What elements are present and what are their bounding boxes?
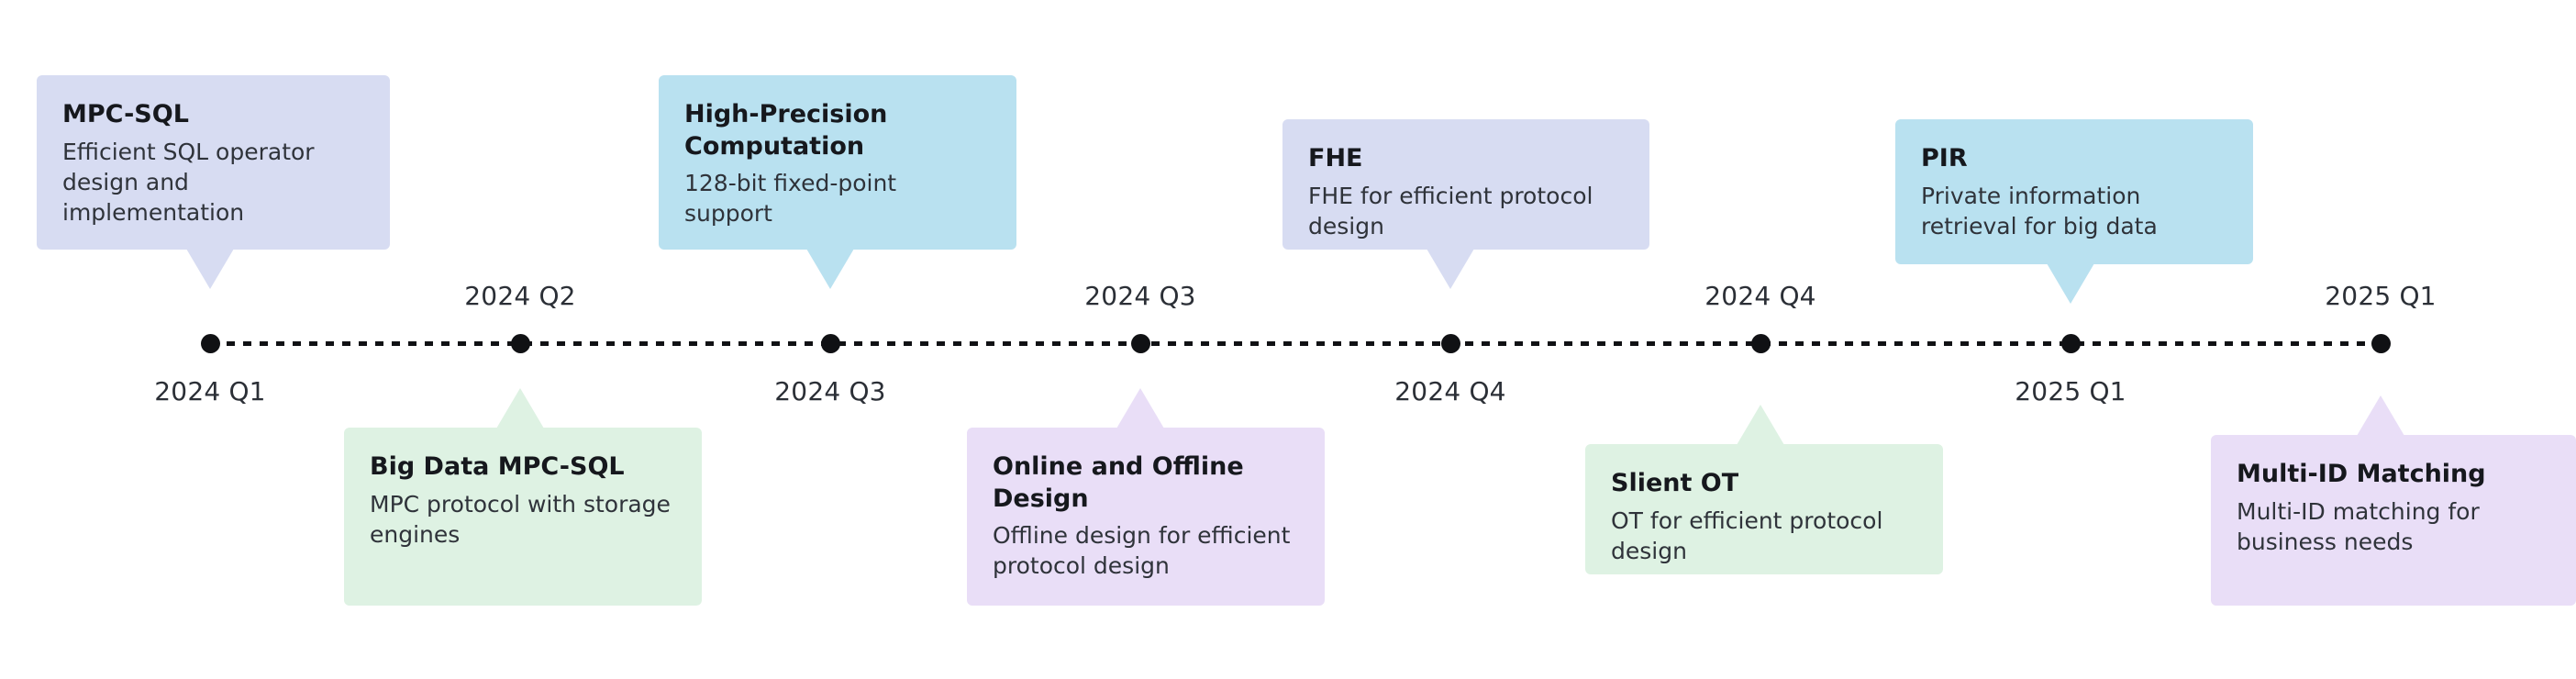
- timeline-period-label: 2024 Q4: [1394, 376, 1505, 406]
- timeline-period-label: 2025 Q1: [2015, 376, 2126, 406]
- timeline-period-label: 2024 Q1: [154, 376, 265, 406]
- timeline-period-label: 2024 Q2: [464, 281, 575, 311]
- milestone-title: FHE: [1308, 143, 1624, 175]
- timeline-diagram: 2024 Q12024 Q22024 Q32024 Q32024 Q42024 …: [0, 0, 2576, 679]
- milestone-card-pointer: [806, 249, 854, 289]
- milestone-card[interactable]: PIRPrivate information retrieval for big…: [1895, 119, 2253, 264]
- milestone-card-pointer: [2047, 263, 2094, 304]
- timeline-marker-dot: [1441, 334, 1460, 353]
- timeline-marker-dot: [2371, 334, 2391, 353]
- timeline-period-label: 2024 Q3: [1084, 281, 1195, 311]
- timeline-marker-dot: [2061, 334, 2081, 353]
- timeline-marker-dot: [1131, 334, 1150, 353]
- milestone-card[interactable]: MPC-SQLEfficient SQL operator design and…: [37, 75, 390, 250]
- timeline-period-label: 2024 Q4: [1704, 281, 1815, 311]
- milestone-description: OT for efficient protocol design: [1611, 506, 1917, 567]
- timeline-marker-dot: [1751, 334, 1771, 353]
- timeline-axis: [210, 341, 2380, 346]
- milestone-card[interactable]: Multi-ID MatchingMulti-ID matching for b…: [2211, 435, 2576, 606]
- milestone-title: MPC-SQL: [62, 99, 364, 131]
- timeline-marker-dot: [201, 334, 220, 353]
- milestone-description: Efficient SQL operator design and implem…: [62, 137, 364, 228]
- milestone-card[interactable]: Slient OTOT for efficient protocol desig…: [1585, 444, 1943, 574]
- timeline-marker-dot: [821, 334, 840, 353]
- milestone-title: Online and Offline Design: [993, 451, 1299, 515]
- milestone-card[interactable]: Online and Offline DesignOffline design …: [967, 428, 1325, 606]
- timeline-marker-dot: [511, 334, 530, 353]
- milestone-description: Private information retrieval for big da…: [1921, 181, 2227, 242]
- milestone-card[interactable]: Big Data MPC-SQLMPC protocol with storag…: [344, 428, 702, 606]
- milestone-title: Multi-ID Matching: [2237, 459, 2550, 491]
- milestone-card-pointer: [496, 388, 544, 429]
- milestone-card[interactable]: FHEFHE for efficient protocol design: [1282, 119, 1649, 250]
- milestone-description: FHE for efficient protocol design: [1308, 181, 1624, 242]
- milestone-description: MPC protocol with storage engines: [370, 489, 676, 551]
- milestone-title: Big Data MPC-SQL: [370, 451, 676, 484]
- timeline-period-label: 2025 Q1: [2325, 281, 2436, 311]
- milestone-description: Offline design for efficient protocol de…: [993, 520, 1299, 582]
- milestone-title: High-Precision Computation: [684, 99, 991, 162]
- milestone-title: Slient OT: [1611, 468, 1917, 500]
- milestone-card[interactable]: High-Precision Computation128-bit fixed-…: [659, 75, 1016, 250]
- milestone-title: PIR: [1921, 143, 2227, 175]
- milestone-description: 128-bit fixed-point support: [684, 168, 991, 229]
- milestone-description: Multi-ID matching for business needs: [2237, 496, 2550, 558]
- milestone-card-pointer: [186, 249, 234, 289]
- milestone-card-pointer: [1116, 388, 1164, 429]
- milestone-card-pointer: [1737, 405, 1784, 445]
- milestone-card-pointer: [2357, 395, 2404, 436]
- timeline-period-label: 2024 Q3: [774, 376, 885, 406]
- milestone-card-pointer: [1427, 249, 1474, 289]
